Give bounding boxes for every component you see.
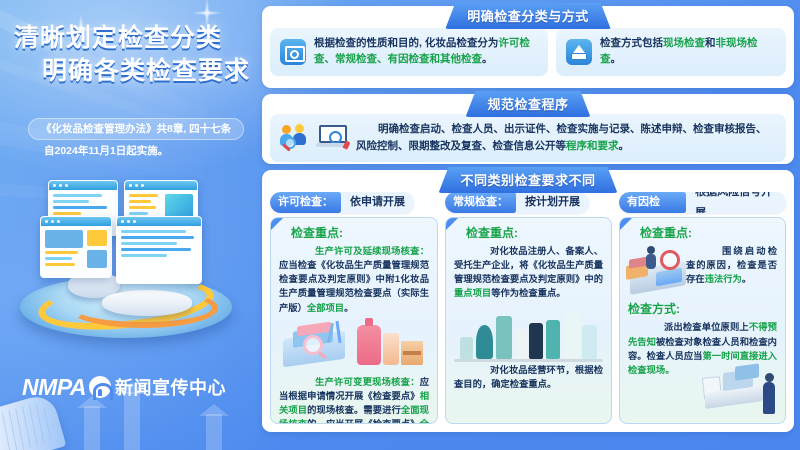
card-body-permit: 检查重点: 生产许可及延续现场核查：应当检查《化妆品生产质量管理规范检查要点及判… [270, 217, 438, 424]
routine-para-2: 对化妆品经营环节，根据检查目的，确定检查重点。 [454, 363, 603, 391]
hero-title-line1: 清晰划定检查分类 [14, 22, 250, 55]
inspectors-magnifier-icon [280, 124, 310, 152]
info-text-classification: 根据检查的性质和目的, 化妆品检查分为许可检查、常规检查、有因检查和其他检查。 [314, 36, 538, 68]
panel-procedure: 规范检查程序 明确检查启动、检查人员、出示证件、检查实施与记录、陈述申辩、检查审… [262, 94, 794, 164]
hero-illustration [12, 176, 248, 362]
card-tag-value: 依申请开展 [341, 192, 414, 213]
nmpa-logo: NMPA 新闻宣传中心 [22, 372, 248, 402]
browser-window-icon [40, 216, 112, 278]
card-body-cause: 检查重点: 围绕启动检查的原因，检查是否存在违法行为。 检查方式: 派出检查单位… [619, 217, 786, 424]
disc-shape [102, 290, 192, 316]
cause-para-1: 围绕启动检查的原因，检查是否存在违法行为。 [686, 244, 777, 286]
panel-classification: 明确检查分类与方式 根据检查的性质和目的, 化妆品检查分为许可检查、常规检查、有… [262, 6, 794, 88]
panel3-title: 不同类别检查要求不同 [438, 167, 617, 193]
panel1-title: 明确检查分类与方式 [445, 3, 611, 29]
corner-flag-icon [620, 218, 632, 230]
infographic-root: 清晰划定检查分类 明确各类检查要求 《化妆品检查管理办法》共8章, 四十七条 自… [0, 0, 800, 450]
procedure-text: 明确检查启动、检查人员、出示证件、检查实施与记录、陈述申辩、检查审核报告、风险控… [356, 121, 776, 155]
permit-para-2: 生产许可变更现场核查：应当根据申请情况开展《检查要点》相关项目的现场核查。需要进… [279, 375, 429, 424]
card-tag-value: 按计划开展 [516, 192, 589, 213]
nmpa-arch-icon [89, 376, 111, 398]
laptop-search-icon [316, 125, 350, 151]
law-effective-date: 自2024年11月1日起实施。 [44, 143, 168, 158]
card-routine-inspection: 常规检查： 按计划开展 检查重点: 对化妆品注册人、备案人、受托生产企业，将《化… [445, 192, 612, 424]
logo-org-name: 新闻宣传中心 [115, 374, 226, 400]
documents-cosmetics-icon [279, 319, 429, 371]
info-box-methods: 检查方式包括现场检查和非现场检查。 [556, 28, 786, 76]
corner-flag-icon [271, 218, 283, 230]
corner-flag-icon [446, 218, 458, 230]
permit-para-1: 生产许可及延续现场核查：应当检查《化妆品生产质量管理规范检查要点及判定原则》中附… [279, 244, 429, 315]
card-tag-routine: 常规检查： 按计划开展 [445, 192, 589, 213]
investigator-magnifier-icon [626, 244, 692, 296]
card-tag-key: 有因检查： [619, 192, 686, 213]
card-tag-permit: 许可检查： 依申请开展 [270, 192, 414, 213]
card-tag-key: 许可检查： [270, 192, 341, 213]
hero-title: 清晰划定检查分类 明确各类检查要求 [0, 22, 250, 88]
nmpa-wordmark: NMPA [22, 376, 86, 399]
cosmetic-bottles-icon [454, 305, 603, 359]
law-reference-pill: 《化妆品检查管理办法》共8章, 四十七条 [28, 118, 244, 140]
focus-heading: 检查重点: [291, 224, 429, 241]
card-body-routine: 检查重点: 对化妆品注册人、备案人、受托生产企业，将《化妆品生产质量管理规范检查… [445, 217, 612, 424]
hero-title-line2: 明确各类检查要求 [14, 55, 250, 88]
panel2-title: 规范检查程序 [465, 91, 590, 117]
routine-para-1: 对化妆品注册人、备案人、受托生产企业，将《化妆品生产质量管理规范检查要点及判定原… [454, 244, 603, 301]
focus-heading: 检查重点: [466, 224, 603, 241]
content-column: 明确检查分类与方式 根据检查的性质和目的, 化妆品检查分为许可检查、常规检查、有… [258, 0, 800, 450]
card-tag-value: 根据风险信号开展 [686, 192, 786, 213]
info-box-classification: 根据检查的性质和目的, 化妆品检查分为许可检查、常规检查、有因检查和其他检查。 [270, 28, 548, 76]
info-text-methods: 检查方式包括现场检查和非现场检查。 [600, 36, 776, 68]
card-tag-key: 常规检查： [445, 192, 516, 213]
browser-window-search-icon [116, 216, 202, 284]
camera-inspect-icon [280, 39, 306, 65]
method-heading: 检查方式: [628, 300, 777, 317]
hero-panel: 清晰划定检查分类 明确各类检查要求 《化妆品检查管理办法》共8章, 四十七条 自… [0, 0, 258, 450]
card-tag-cause: 有因检查： 根据风险信号开展 [619, 192, 786, 213]
office-desk-worker-icon [705, 363, 781, 421]
card-cause-inspection: 有因检查： 根据风险信号开展 检查重点: 围绕启动检查的原因，检查是否存在违法行… [619, 192, 786, 424]
factory-site-icon [566, 39, 592, 65]
card-permit-inspection: 许可检查： 依申请开展 检查重点: 生产许可及延续现场核查：应当检查《化妆品生产… [270, 192, 438, 424]
focus-heading: 检查重点: [640, 224, 777, 241]
panel-categories: 不同类别检查要求不同 许可检查： 依申请开展 检查重点: 生产许可及延续现场核查… [262, 170, 794, 432]
